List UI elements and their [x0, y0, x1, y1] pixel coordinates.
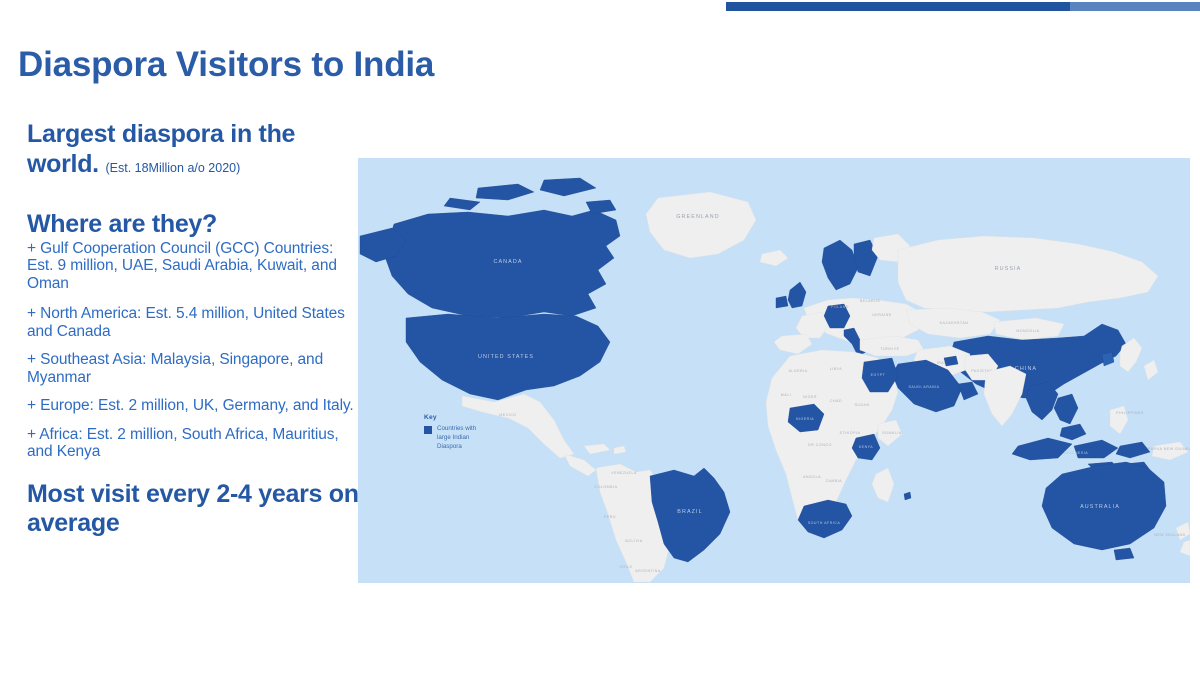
svg-text:MONGOLIA: MONGOLIA [1016, 329, 1039, 333]
world-map-graphic: .land { fill:#EFEFEF; stroke:#E2E2E2; st… [358, 158, 1190, 583]
svg-text:CHILE: CHILE [619, 565, 632, 569]
list-item: + Southeast Asia: Malaysia, Singapore, a… [27, 351, 363, 386]
svg-text:Diaspora: Diaspora [437, 443, 462, 450]
page-title: Diaspora Visitors to India [18, 45, 434, 85]
top-accent-bar-dark [726, 2, 1070, 11]
svg-text:CHAD: CHAD [830, 399, 842, 403]
svg-text:RUSSIA: RUSSIA [995, 266, 1022, 272]
svg-text:LIBYA: LIBYA [830, 367, 843, 371]
svg-text:ZAMBIA: ZAMBIA [826, 479, 842, 483]
svg-text:INDONESIA: INDONESIA [1064, 451, 1088, 455]
svg-text:UNITED STATES: UNITED STATES [478, 354, 534, 360]
svg-text:Key: Key [424, 414, 437, 421]
svg-text:large Indian: large Indian [437, 434, 470, 441]
slide-canvas: Diaspora Visitors to India Largest diasp… [0, 0, 1200, 675]
svg-text:SAUDI ARABIA: SAUDI ARABIA [909, 385, 940, 389]
svg-text:ARGENTINA: ARGENTINA [635, 569, 661, 573]
lede-statement: Largest diaspora in the world. (Est. 18M… [27, 120, 363, 179]
svg-text:TÜRKIYE: TÜRKIYE [880, 347, 899, 351]
world-map-panel: .land { fill:#EFEFEF; stroke:#E2E2E2; st… [358, 158, 1190, 583]
svg-text:PAPUA NEW GUINEA: PAPUA NEW GUINEA [1148, 447, 1190, 451]
svg-text:ALGERIA: ALGERIA [788, 369, 807, 373]
svg-text:KAZAKHSTAN: KAZAKHSTAN [940, 321, 969, 325]
top-accent-bar-light [1070, 2, 1200, 11]
svg-text:ETHIOPIA: ETHIOPIA [840, 431, 861, 435]
svg-text:EGYPT: EGYPT [871, 373, 886, 377]
closing-statement: Most visit every 2-4 years on average [27, 480, 363, 538]
svg-text:POLAND: POLAND [831, 305, 849, 309]
svg-text:UKRAINE: UKRAINE [872, 313, 892, 317]
svg-text:VENEZUELA: VENEZUELA [611, 471, 637, 475]
svg-text:PERU: PERU [604, 515, 616, 519]
left-content-column: Largest diaspora in the world. (Est. 18M… [27, 120, 363, 538]
where-are-they-heading: Where are they? [27, 211, 363, 239]
svg-text:KENYA: KENYA [859, 445, 874, 449]
lede-note: (Est. 18Million a/o 2020) [105, 161, 240, 175]
region-bullet-list: + Gulf Cooperation Council (GCC) Countri… [27, 240, 363, 461]
svg-text:SUDAN: SUDAN [854, 403, 869, 407]
svg-text:MALI: MALI [781, 393, 791, 397]
svg-text:NIGERIA: NIGERIA [796, 417, 814, 421]
list-item: + Europe: Est. 2 million, UK, Germany, a… [27, 397, 363, 415]
list-item: + North America: Est. 5.4 million, Unite… [27, 305, 363, 340]
svg-text:NEW ZEALAND: NEW ZEALAND [1154, 533, 1185, 537]
svg-text:DR CONGO: DR CONGO [808, 443, 832, 447]
list-item: + Africa: Est. 2 million, South Africa, … [27, 426, 363, 461]
svg-text:BELARUS: BELARUS [860, 299, 880, 303]
svg-text:MEXICO: MEXICO [499, 413, 516, 417]
svg-text:COLOMBIA: COLOMBIA [595, 485, 618, 489]
list-item: + Gulf Cooperation Council (GCC) Countri… [27, 240, 363, 293]
svg-text:NIGER: NIGER [803, 395, 817, 399]
svg-text:CANADA: CANADA [493, 259, 522, 265]
svg-text:ANGOLA: ANGOLA [803, 475, 821, 479]
svg-text:PHILIPPINES: PHILIPPINES [1116, 411, 1144, 415]
svg-text:BRAZIL: BRAZIL [677, 509, 702, 515]
svg-text:BOLIVIA: BOLIVIA [625, 539, 643, 543]
svg-text:SOMALIA: SOMALIA [882, 431, 902, 435]
svg-text:Countries with: Countries with [437, 425, 477, 432]
svg-text:GREENLAND: GREENLAND [676, 214, 719, 220]
svg-text:SOUTH AFRICA: SOUTH AFRICA [808, 521, 841, 525]
svg-text:AUSTRALIA: AUSTRALIA [1080, 504, 1120, 510]
